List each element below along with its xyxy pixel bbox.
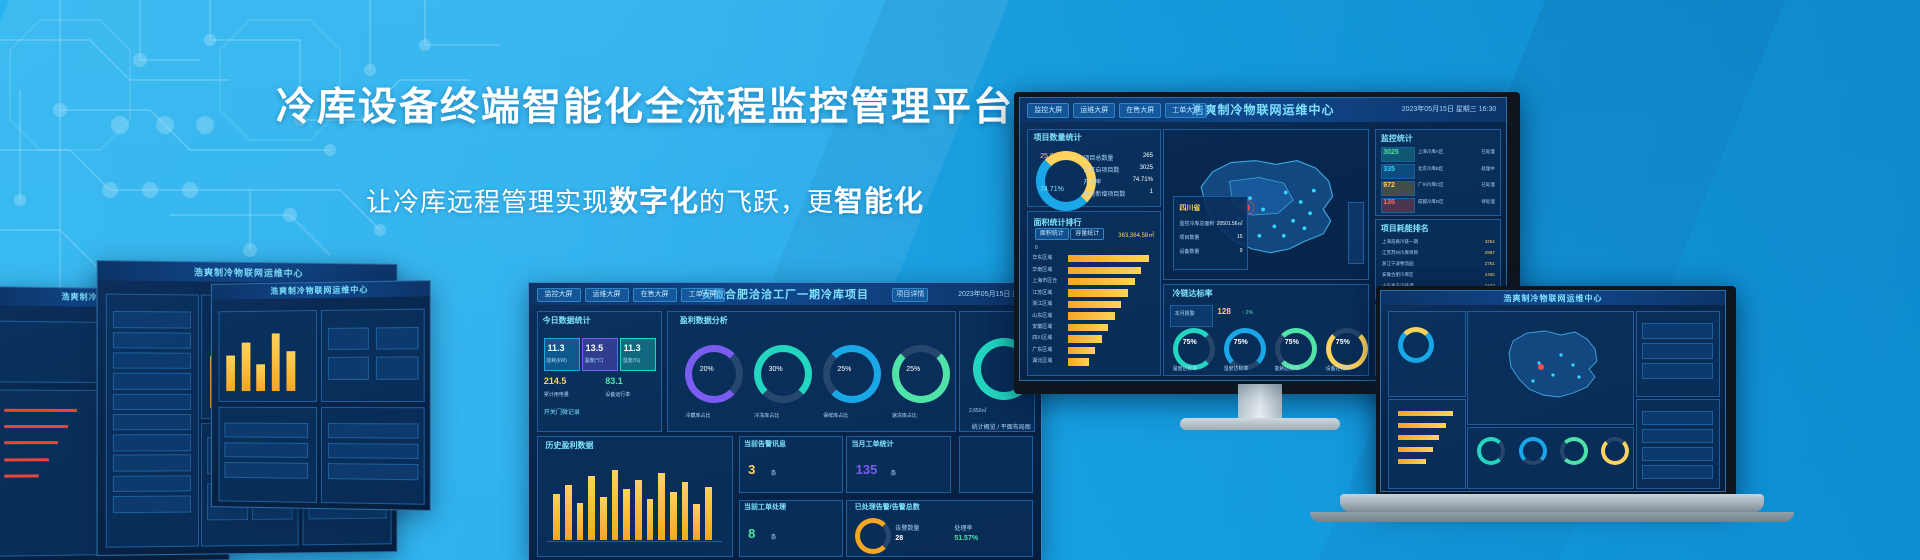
center-processed-row-0-value: 28 xyxy=(895,535,903,542)
main-project-row-3-label: 本月新增项目数 xyxy=(1083,189,1125,198)
main-gauge-2-label: 能耗达标率 xyxy=(1275,365,1300,372)
main-gauge-3-value: 75% xyxy=(1336,339,1350,346)
main-project-row-2-value: 74.71% xyxy=(1133,177,1153,183)
center-sub-title: 开关门微记录 xyxy=(544,407,580,416)
center-history-title: 历史盈利数据 xyxy=(545,440,593,451)
center-processed-ring xyxy=(855,518,891,554)
center-donut-2 xyxy=(823,345,881,403)
main-gauge-1-label: 湿度达标率 xyxy=(1224,365,1249,372)
center-profit-title: 盈利数据分析 xyxy=(680,315,728,326)
center-donut-3-label: 速冻库占比 xyxy=(892,412,917,419)
main-energy-1-v: 2987 xyxy=(1485,250,1495,255)
main-area-axis: 0 xyxy=(1035,245,1038,251)
main-project-legend-0: 25.82% xyxy=(1040,153,1064,160)
main-stat-0-value: 3025 xyxy=(1383,149,1399,156)
center-sub-1-value: 83.1 xyxy=(605,376,623,386)
main-energy-rank-title: 项目耗能排名 xyxy=(1381,223,1429,234)
main-map-info-2-label: 设备数量 xyxy=(1179,248,1199,255)
main-monitor-stats-title: 监控统计 xyxy=(1381,133,1413,144)
main-project-row-0-value: 265 xyxy=(1143,153,1153,159)
center-footer-left: 统计概览 / 平面布局图 xyxy=(972,422,1031,431)
center-donut-0-value: 20% xyxy=(700,366,714,373)
center-donut-1-value: 30% xyxy=(769,366,783,373)
main-area-bar-0-label: 华东区域 xyxy=(1032,254,1052,261)
center-workorder-label: 条 xyxy=(771,532,777,541)
main-map-info-2-value: 9 xyxy=(1240,248,1243,254)
center-panel-profit: 盈利数据分析 20% 冷藏库占比 30% 冷冻库占比 25% 保鲜库占比 25%… xyxy=(667,311,956,433)
center-donut-3-value: 25% xyxy=(906,366,920,373)
center-nav-0[interactable]: 监控大屏 xyxy=(537,288,581,302)
main-gauge-2-value: 75% xyxy=(1285,339,1299,346)
center-panel-monthly: 当月工单统计 135 条 xyxy=(846,436,950,494)
center-donut-0 xyxy=(685,345,743,403)
center-panel-workorder: 当前工单处理 8 条 xyxy=(739,500,843,558)
laptop-dashboard-title: 浩爽制冷物联网运维中心 xyxy=(1504,293,1603,304)
center-monthly-title: 当月工单统计 xyxy=(852,439,894,449)
main-row-0-a: 上海冷库A区 xyxy=(1418,149,1444,155)
center-monthly-label: 条 xyxy=(890,468,896,477)
main-energy-2-v: 2761 xyxy=(1485,261,1495,266)
center-processed-row-0-label: 告警数量 xyxy=(895,523,919,532)
center-dashboard-title: 安徽合肥洽洽工厂一期冷库项目 xyxy=(701,286,869,302)
main-map-info-1-value: 15 xyxy=(1237,234,1243,240)
center-nav-2[interactable]: 在售大屏 xyxy=(633,288,677,302)
center-dashboard: 监控大屏 运维大屏 在售大屏 工单大屏 安徽合肥洽洽工厂一期冷库项目 项目详情 … xyxy=(528,282,1042,560)
center-processed-row-1-label: 处理率 xyxy=(954,523,972,532)
main-gauge-0-value: 75% xyxy=(1183,339,1197,346)
center-metric-0-label: 能耗(kW) xyxy=(546,357,567,364)
main-area-bar-8-label: 广东区域 xyxy=(1032,346,1052,353)
main-energy-1-name: 江苏苏州冷库项目 xyxy=(1382,250,1418,256)
main-nav-1[interactable]: 运维大屏 xyxy=(1073,103,1115,118)
main-project-row-1-value: 3025 xyxy=(1140,165,1153,171)
main-row-2-c: 已处理 xyxy=(1481,182,1495,188)
main-panel-map: 四川省 监控冷库总面积 20501.56㎡ 项目数量 15 设备数量 9 xyxy=(1163,129,1369,280)
main-area-tab-1[interactable]: 容量统计 xyxy=(1070,228,1104,240)
main-area-bar-6-label: 安徽区域 xyxy=(1032,323,1052,330)
main-row-0-c: 已处理 xyxy=(1481,149,1495,155)
main-map-info-0-label: 监控冷库总面积 xyxy=(1179,220,1214,227)
center-today-title: 今日数据统计 xyxy=(543,315,591,326)
laptop-base xyxy=(1340,494,1764,512)
center-alarm-title: 当前告警讯息 xyxy=(744,439,786,449)
main-panel-monitor-stats: 监控统计 3025 335 972 135 上海冷库A区 已处理 北京冷库B区 … xyxy=(1375,129,1501,216)
subtitle-part-1: 让冷库远程管理实现 xyxy=(366,187,609,217)
center-donut-2-value: 25% xyxy=(837,366,851,373)
main-project-row-2-label: 开启率 xyxy=(1083,177,1101,186)
main-area-rank-title: 面积统计排行 xyxy=(1034,217,1082,228)
center-processed-title: 已处理告警/告警总数 xyxy=(855,502,920,512)
main-nav-3[interactable]: 工单大屏 xyxy=(1165,103,1207,118)
main-row-1-a: 北京冷库B区 xyxy=(1418,166,1444,172)
center-nav-3[interactable]: 工单大屏 xyxy=(681,288,725,302)
center-workorder-title: 当前工单处理 xyxy=(744,502,786,512)
subtitle-part-2: 的飞跃，更 xyxy=(699,187,834,217)
main-stat-2-value: 972 xyxy=(1383,182,1395,189)
center-panel-processed: 已处理告警/告警总数 告警数量 28 处理率 51.57% xyxy=(846,500,1032,558)
center-metric-0-value: 11.3 xyxy=(548,343,565,353)
background-dashboard-3: 浩爽制冷物联网运维中心 xyxy=(211,280,431,511)
main-map-info: 四川省 监控冷库总面积 20501.56㎡ 项目数量 15 设备数量 9 xyxy=(1173,196,1248,270)
main-dashboard-title: 浩爽制冷物联网运维中心 xyxy=(1191,101,1334,118)
main-map-sidebar xyxy=(1348,202,1364,264)
main-map-info-0-value: 20501.56㎡ xyxy=(1217,220,1243,227)
main-gauge-1-value: 75% xyxy=(1234,339,1248,346)
main-row-1-c: 处理中 xyxy=(1481,166,1495,172)
center-panel-extra xyxy=(959,436,1033,494)
center-processed-row-1-value: 51.57% xyxy=(954,535,978,542)
main-row-3-a: 成都冷库D区 xyxy=(1418,199,1444,205)
main-gauge-0-label: 温度达标率 xyxy=(1173,365,1198,372)
main-nav-0[interactable]: 监控大屏 xyxy=(1027,103,1069,118)
center-alarm-value: 3 xyxy=(748,462,755,477)
hero-banner: 冷库设备终端智能化全流程监控管理平台 让冷库远程管理实现数字化的飞跃，更智能化 … xyxy=(0,0,1920,560)
main-energy-0-name: 上海浩爽冷链一期 xyxy=(1382,239,1418,245)
back-screen-2-title: 浩爽制冷物联网运维中心 xyxy=(194,265,304,279)
main-datetime: 2023年05月15日 星期三 16:30 xyxy=(1402,104,1497,114)
main-project-count-title: 项目数量统计 xyxy=(1034,132,1082,143)
laptop-foot xyxy=(1310,512,1794,522)
center-donut-2-label: 保鲜库占比 xyxy=(823,412,848,419)
main-panel-area-rank: 面积统计排行 面积统计 容量统计 363,364.58㎡ 0 华东区域 华南区域… xyxy=(1027,211,1160,377)
main-energy-2-name: 浙江宁波物流园 xyxy=(1382,261,1414,267)
center-metric-2-label: 湿度(%) xyxy=(622,357,640,364)
main-map-province: 四川省 xyxy=(1179,203,1200,213)
center-metric-1-value: 13.5 xyxy=(586,343,604,353)
main-project-row-0-label: 项目总数量 xyxy=(1083,153,1113,162)
main-energy-0-v: 3254 xyxy=(1485,239,1495,244)
main-area-tab-0[interactable]: 面积统计 xyxy=(1035,228,1069,240)
main-area-bar-7-label: 四川区域 xyxy=(1032,334,1052,341)
main-nav-2[interactable]: 在售大屏 xyxy=(1119,103,1161,118)
center-panel-today: 今日数据统计 11.3 能耗(kW) 13.5 温度(℃) 11.3 湿度(%)… xyxy=(537,311,662,433)
center-donut-3 xyxy=(892,345,950,403)
center-panel-history: 历史盈利数据 xyxy=(537,436,734,558)
subtitle-highlight-1: 数字化 xyxy=(609,186,699,218)
main-energy-3-v: 2455 xyxy=(1485,272,1495,277)
center-metric-2-value: 11.3 xyxy=(624,343,641,353)
main-stat-1-value: 335 xyxy=(1383,166,1395,173)
main-map-info-1-label: 项目数量 xyxy=(1179,234,1199,241)
main-gauge-3-label: 设备在线率 xyxy=(1326,365,1351,372)
main-panel-coldchain: 冷链达标率 本月报警 128 ↑ 2% 75% 温度达标率 75% 湿度达标率 … xyxy=(1163,284,1369,376)
laptop-dashboard: 浩爽制冷物联网运维中心 xyxy=(1380,290,1726,492)
center-sub-0-value: 214.5 xyxy=(544,376,567,386)
main-area-total: 363,364.58㎡ xyxy=(1118,230,1154,239)
main-coldchain-title: 冷链达标率 xyxy=(1173,288,1213,299)
center-sub-0-label: 累计用电量 xyxy=(544,391,569,398)
main-coldchain-alert-value: 128 xyxy=(1217,307,1230,316)
center-donut-1-label: 冷冻库占比 xyxy=(754,412,779,419)
center-detail-button[interactable]: 项目详情 xyxy=(892,288,928,302)
center-alarm-label: 条 xyxy=(771,468,777,477)
center-monthly-value: 135 xyxy=(856,462,878,477)
center-donut-0-label: 冷藏库占比 xyxy=(685,412,710,419)
main-area-bar-1-label: 华南区域 xyxy=(1032,266,1052,273)
center-nav-1[interactable]: 运维大屏 xyxy=(585,288,629,302)
main-project-row-3-value: 1 xyxy=(1150,189,1153,195)
center-workorder-value: 8 xyxy=(748,526,755,541)
center-metric-1-label: 温度(℃) xyxy=(584,357,603,364)
main-panel-project-count: 项目数量统计 25.82% 74.71% 项目总数量 265 已开启项目数 30… xyxy=(1027,129,1160,207)
laptop-map xyxy=(1484,323,1614,403)
main-area-bar-4-label: 浙江区域 xyxy=(1032,300,1052,307)
main-project-legend-1: 74.71% xyxy=(1040,186,1064,193)
main-row-2-a: 广州冷库C区 xyxy=(1418,182,1444,188)
monitor-stand-neck xyxy=(1238,384,1282,420)
main-coldchain-alert-label: 本月报警 xyxy=(1175,310,1195,317)
center-ring-label: 2,650㎡ xyxy=(969,407,987,414)
center-panel-alarm: 当前告警讯息 3 条 xyxy=(739,436,843,494)
main-area-bar-3-label: 江苏区域 xyxy=(1032,289,1052,296)
main-energy-3-name: 安徽合肥冷库区 xyxy=(1382,272,1414,278)
main-project-row-1-label: 已开启项目数 xyxy=(1083,165,1119,174)
main-area-bar-9-label: 湖北区域 xyxy=(1032,357,1052,364)
center-sub-1-label: 设备运行率 xyxy=(605,391,630,398)
back-screen-3-title: 浩爽制冷物联网运维中心 xyxy=(270,284,368,297)
main-coldchain-alert-delta: ↑ 2% xyxy=(1242,310,1253,316)
main-area-bar-2-label: 上海市区仓 xyxy=(1032,277,1057,284)
subtitle-highlight-2: 智能化 xyxy=(834,186,924,218)
monitor-stand-base xyxy=(1180,418,1340,430)
main-row-3-c: 待处理 xyxy=(1481,199,1495,205)
main-area-bar-5-label: 山东区域 xyxy=(1032,312,1052,319)
center-donut-1 xyxy=(754,345,812,403)
main-stat-3-value: 135 xyxy=(1383,199,1395,206)
